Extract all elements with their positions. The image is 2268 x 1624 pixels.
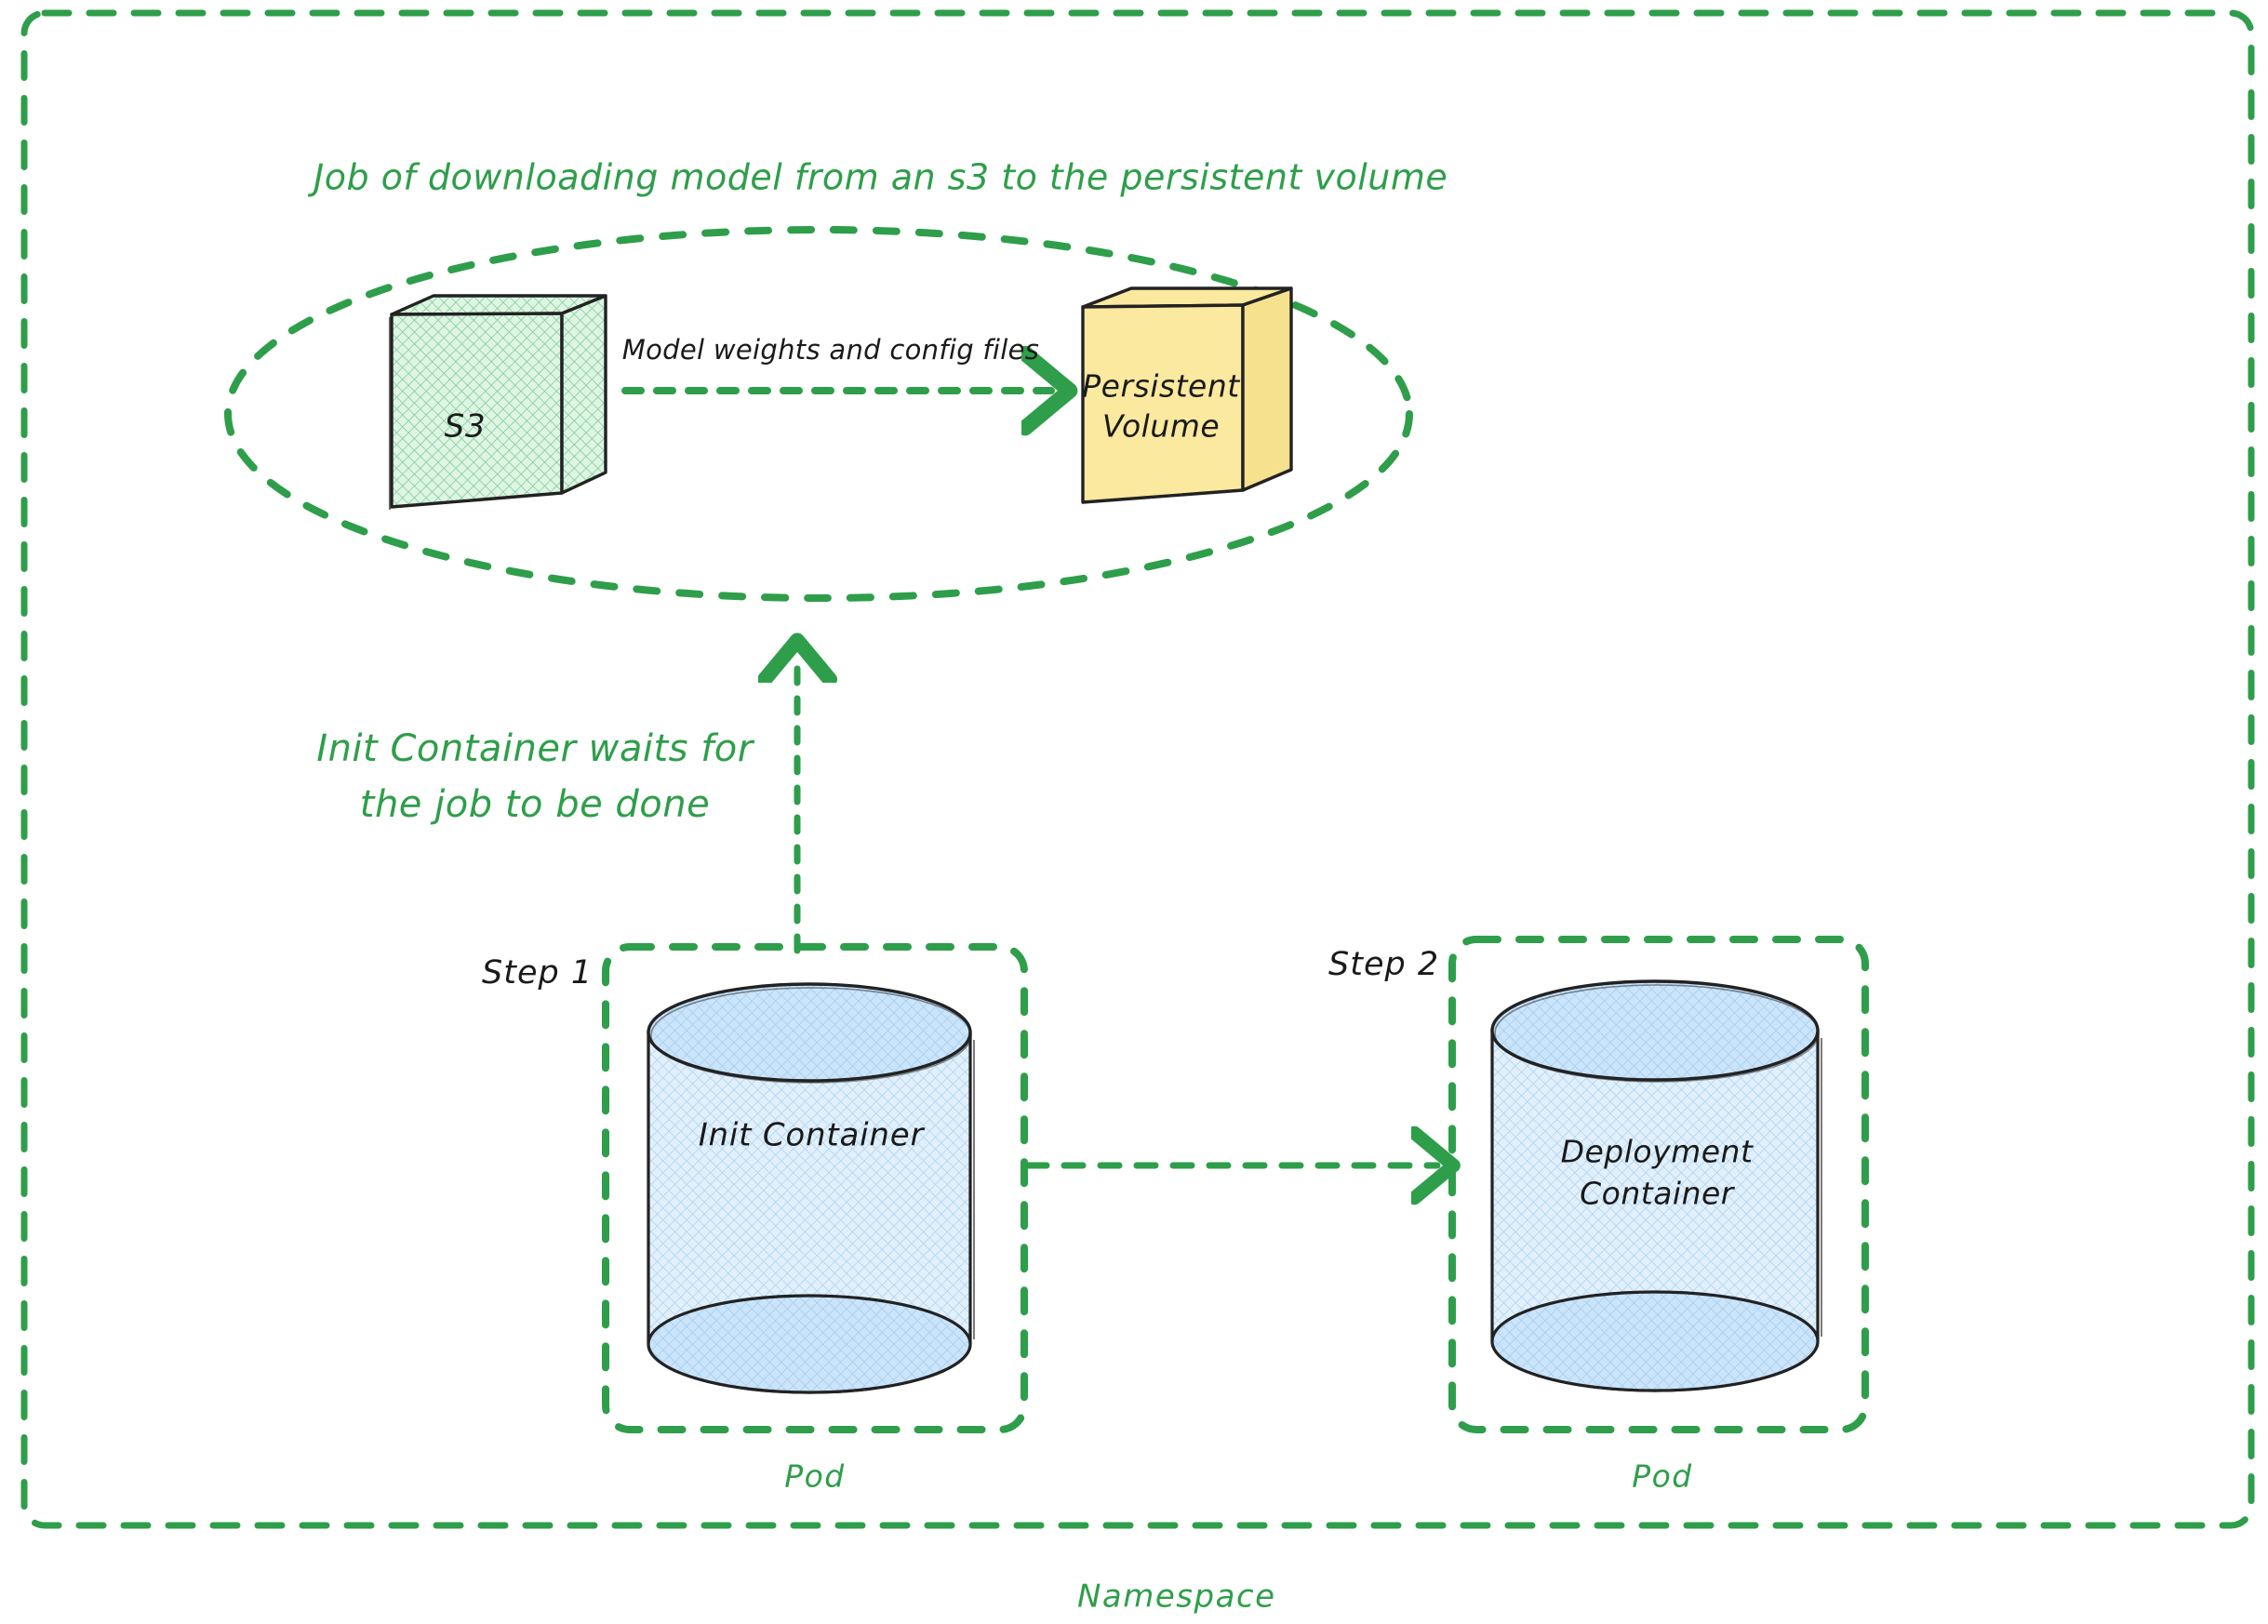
- deployment-container-cylinder-top-cap: [1492, 981, 1818, 1080]
- pod-2-step-label: Step 2: [1328, 946, 1439, 983]
- pod-1-group[interactable]: Init Container Step 1 Pod: [482, 947, 1024, 1495]
- wait-edge-label-line2: the job to be done: [360, 783, 710, 826]
- architecture-diagram-svg: Namespace Job of downloading model from …: [0, 0, 2268, 1624]
- deployment-container-label-line2: Container: [1580, 1176, 1736, 1212]
- s3-cube-label: S3: [445, 408, 487, 446]
- pv-cube-label-line2: Volume: [1102, 408, 1220, 445]
- init-container-cylinder-bottom-cap: [648, 1296, 970, 1392]
- pv-cube-label-line1: Persistent: [1082, 368, 1240, 405]
- persistent-volume-cube-node[interactable]: Persistent Volume: [1082, 288, 1291, 502]
- init-container-cylinder[interactable]: Init Container: [648, 984, 974, 1392]
- pod-2-group[interactable]: Deployment Container Step 2 Pod: [1328, 939, 1865, 1495]
- deployment-container-label-line1: Deployment: [1561, 1134, 1754, 1170]
- pod-1-step-label: Step 1: [482, 954, 593, 992]
- pod-2-label: Pod: [1632, 1458, 1693, 1495]
- deployment-container-cylinder-bottom-cap: [1492, 1292, 1818, 1391]
- init-container-label: Init Container: [699, 1117, 926, 1154]
- pv-cube-side-face: [1243, 288, 1291, 490]
- job-group-title: Job of downloading model from an s3 to t…: [307, 157, 1448, 198]
- s3-cube-node[interactable]: S3: [390, 296, 606, 510]
- deployment-container-cylinder[interactable]: Deployment Container: [1492, 981, 1821, 1391]
- namespace-label: Namespace: [1077, 1578, 1276, 1616]
- init-container-cylinder-top-cap: [648, 984, 970, 1081]
- edge-s3-to-pv-label: Model weights and config files: [622, 334, 1039, 366]
- s3-cube-side-face: [562, 296, 606, 493]
- diagram-canvas: Namespace Job of downloading model from …: [0, 0, 2268, 1624]
- wait-edge-label-line1: Init Container waits for: [316, 727, 754, 770]
- pod-1-label: Pod: [784, 1458, 846, 1495]
